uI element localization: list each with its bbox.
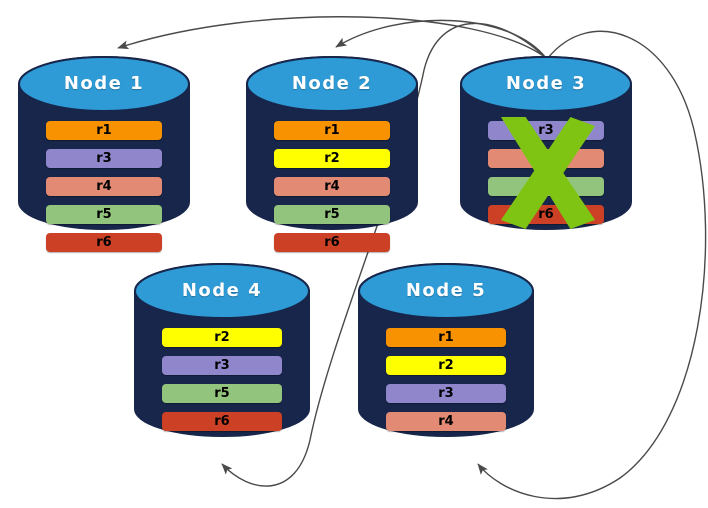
- arrow-node3-to-node2: [336, 20, 546, 58]
- replica-bar[interactable]: r6: [46, 233, 162, 252]
- arrow-node3-to-node1: [118, 17, 546, 58]
- replica-bar[interactable]: r1: [46, 121, 162, 140]
- node-cylinder-1[interactable]: Node 1r1r3r4r5r6: [18, 55, 190, 231]
- node-cylinder-4[interactable]: Node 4r2r3r5r6: [134, 262, 310, 438]
- replica-bar[interactable]: r3: [162, 356, 282, 375]
- replica-bar[interactable]: r2: [162, 328, 282, 347]
- node-title: Node 3: [460, 73, 632, 94]
- replica-bar[interactable]: r2: [386, 356, 506, 375]
- replica-list: r1r2r3r4: [358, 328, 534, 440]
- replica-bar[interactable]: r4: [488, 149, 604, 168]
- node-title: Node 4: [134, 280, 310, 301]
- node-title: Node 2: [246, 73, 418, 94]
- replica-bar[interactable]: r2: [274, 149, 390, 168]
- replica-bar[interactable]: r6: [274, 233, 390, 252]
- replica-list: r2r3r5r6: [134, 328, 310, 440]
- node-cylinder-3[interactable]: Node 3r3r4r5r6: [460, 55, 632, 231]
- node-title: Node 1: [18, 73, 190, 94]
- node-title: Node 5: [358, 280, 534, 301]
- replica-bar[interactable]: r3: [46, 149, 162, 168]
- replica-bar[interactable]: r4: [386, 412, 506, 431]
- replica-bar[interactable]: r6: [162, 412, 282, 431]
- replica-bar[interactable]: r5: [488, 177, 604, 196]
- replica-list: r1r3r4r5r6: [18, 121, 190, 261]
- replica-bar[interactable]: r1: [274, 121, 390, 140]
- node-cylinder-2[interactable]: Node 2r1r2r4r5r6: [246, 55, 418, 231]
- replica-bar[interactable]: r6: [488, 205, 604, 224]
- replica-bar[interactable]: r4: [46, 177, 162, 196]
- replica-bar[interactable]: r4: [274, 177, 390, 196]
- replica-bar[interactable]: r3: [386, 384, 506, 403]
- node-cylinder-5[interactable]: Node 5r1r2r3r4: [358, 262, 534, 438]
- replica-bar[interactable]: r5: [162, 384, 282, 403]
- replication-diagram: Node 1r1r3r4r5r6Node 2r1r2r4r5r6Node 3r3…: [0, 0, 708, 508]
- replica-bar[interactable]: r1: [386, 328, 506, 347]
- replica-list: r3r4r5r6: [460, 121, 632, 233]
- replica-bar[interactable]: r5: [46, 205, 162, 224]
- replica-bar[interactable]: r3: [488, 121, 604, 140]
- replica-bar[interactable]: r5: [274, 205, 390, 224]
- replica-list: r1r2r4r5r6: [246, 121, 418, 261]
